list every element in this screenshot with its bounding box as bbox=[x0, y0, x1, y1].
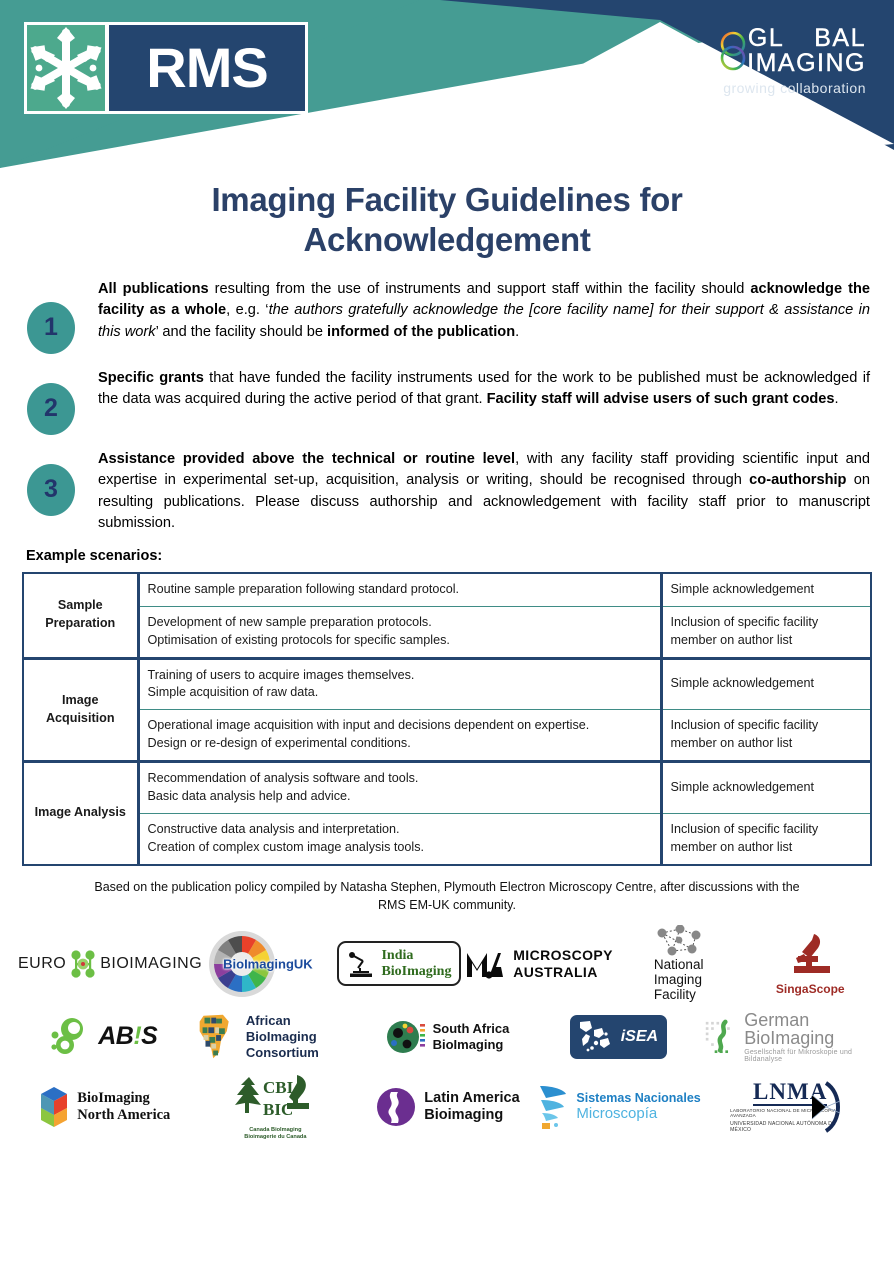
purple-circle-icon bbox=[374, 1085, 418, 1129]
euro-bioimaging-logo: EURO BIOIMAGING bbox=[18, 949, 202, 979]
svg-text:BIC: BIC bbox=[263, 1100, 293, 1119]
guideline-item: 3 Assistance provided above the technica… bbox=[24, 449, 870, 535]
singascope-logo: SingaScope bbox=[776, 932, 845, 996]
nif-line3: Facility bbox=[654, 987, 704, 1002]
microscope-icon bbox=[347, 949, 375, 979]
canada-bioimaging-logo: CBI BIC Canada BioImaging Bioimagerie du… bbox=[235, 1073, 315, 1140]
logo-row-3: BioImaging North America CBI BIC bbox=[18, 1072, 876, 1142]
network-nodes-icon bbox=[652, 925, 706, 957]
gbi-rainbow-circles-icon bbox=[710, 30, 756, 72]
lnma-logo: LNMA LABORATORIO NACIONAL DE MICROSCOPIA… bbox=[730, 1081, 850, 1133]
table-row: Development of new sample preparation pr… bbox=[23, 606, 871, 658]
partner-logos: EURO BIOIMAGING bbox=[0, 926, 894, 1142]
rms-logo-navy-panel: RMS bbox=[109, 25, 305, 111]
page-header: RMS GL BAL BI IMAGING bbox=[0, 0, 894, 168]
guideline-text: All publications resulting from the use … bbox=[98, 279, 870, 344]
logo-cell: India BioImaging bbox=[334, 926, 466, 1002]
logo-cell: SingaScope bbox=[744, 926, 876, 1002]
abis-logo: AB!S bbox=[50, 1017, 157, 1057]
logo-cell: CBI BIC Canada BioImaging Bioimagerie du… bbox=[190, 1072, 362, 1142]
abc-text: African BioImaging Consortium bbox=[246, 1013, 361, 1060]
maple-microscope-icon: CBI BIC bbox=[235, 1073, 315, 1125]
snowflake-icon bbox=[28, 25, 104, 111]
table-description-cell: Development of new sample preparation pr… bbox=[138, 606, 661, 658]
logo-cell: German BioImaging Gesellschaft für Mikro… bbox=[704, 1002, 876, 1072]
unam-icon bbox=[730, 1081, 850, 1133]
table-acknowledgement-cell: Inclusion of specific facility member on… bbox=[661, 813, 871, 864]
isea-logo: iSEA bbox=[570, 1015, 667, 1059]
table-acknowledgement-cell: Inclusion of specific facility member on… bbox=[661, 606, 871, 658]
logo-cell: LNMA LABORATORIO NACIONAL DE MICROSCOPIA… bbox=[704, 1072, 876, 1142]
sab-text: South Africa BioImaging bbox=[433, 1021, 510, 1054]
guideline-text: Specific grants that have funded the fac… bbox=[98, 368, 870, 411]
table-description-cell: Training of users to acquire images them… bbox=[138, 658, 661, 710]
page-title: Imaging Facility Guidelines for Acknowle… bbox=[0, 180, 894, 261]
german-line1: German bbox=[744, 1011, 876, 1029]
latin-america-bioimaging-logo: Latin America Bioimaging bbox=[374, 1085, 519, 1129]
blue-swoosh-icon bbox=[536, 1084, 570, 1130]
table-acknowledgement-cell: Simple acknowledgement bbox=[661, 573, 871, 606]
bina-line2: North America bbox=[77, 1107, 170, 1124]
microscopy-australia-logo: MICROSCOPY AUSTRALIA bbox=[465, 947, 613, 981]
german-subtitle: Gesellschaft für Mikroskopie und Bildana… bbox=[744, 1049, 876, 1063]
latam-line2: Bioimaging bbox=[424, 1107, 519, 1124]
table-category-cell: Sample Preparation bbox=[23, 573, 138, 658]
sistemas-nacionales-microscopia-logo: Sistemas Nacionales Microscopía bbox=[536, 1084, 700, 1130]
logo-cell: AB!S bbox=[18, 1002, 190, 1072]
table-description-cell: Operational image acquisition with input… bbox=[138, 710, 661, 762]
table-description-cell: Routine sample preparation following sta… bbox=[138, 573, 661, 606]
rms-logo-green-panel bbox=[27, 25, 105, 111]
german-bioimaging-text: German BioImaging Gesellschaft für Mikro… bbox=[744, 1011, 876, 1063]
guideline-bullet: 1 bbox=[24, 301, 78, 355]
table-row: Image Analysis Recommendation of analysi… bbox=[23, 762, 871, 814]
singascope-label: SingaScope bbox=[776, 982, 845, 996]
example-scenarios-label: Example scenarios: bbox=[26, 548, 894, 564]
bioimaging-north-america-logo: BioImaging North America bbox=[37, 1085, 170, 1129]
table-acknowledgement-cell: Simple acknowledgement bbox=[661, 762, 871, 814]
global-bioimaging-logo: GL BAL BI IMAGING growing colla bbox=[646, 26, 866, 98]
pixel-helix-icon bbox=[704, 1016, 738, 1058]
gbi-line2-post: IMAGING bbox=[747, 51, 866, 76]
logo-row-1: EURO BIOIMAGING bbox=[18, 926, 876, 1002]
microscopy-australia-text: MICROSCOPY AUSTRALIA bbox=[513, 947, 613, 980]
logo-cell: Latin America Bioimaging bbox=[361, 1072, 533, 1142]
euro-bioimaging-word1: EURO bbox=[18, 955, 66, 973]
sistemas-text: Sistemas Nacionales Microscopía bbox=[576, 1091, 700, 1122]
microscope-icon bbox=[784, 932, 836, 982]
logo-row-2: AB!S bbox=[18, 1002, 876, 1072]
abc-line1: African BioImaging bbox=[246, 1013, 361, 1044]
rms-logo-text: RMS bbox=[146, 40, 267, 96]
india-line1: India bbox=[381, 948, 451, 963]
table-category-cell: Image Analysis bbox=[23, 762, 138, 865]
logo-cell: African BioImaging Consortium bbox=[190, 1002, 362, 1072]
table-description-cell: Recommendation of analysis software and … bbox=[138, 762, 661, 814]
source-caption: Based on the publication policy compiled… bbox=[0, 878, 894, 914]
table-row: Operational image acquisition with input… bbox=[23, 710, 871, 762]
color-cube-icon bbox=[37, 1085, 71, 1129]
ma-line2: AUSTRALIA bbox=[513, 964, 613, 981]
guidelines-list: 1 All publications resulting from the us… bbox=[0, 279, 894, 535]
logo-cell: South Africa BioImaging bbox=[361, 1002, 533, 1072]
guideline-item: 2 Specific grants that have funded the f… bbox=[24, 368, 870, 436]
logo-cell: BioImagingUK bbox=[202, 926, 334, 1002]
euro-bioimaging-word2: BIOIMAGING bbox=[100, 955, 202, 973]
gbi-line-1: GL BAL bbox=[646, 26, 866, 51]
bina-text: BioImaging North America bbox=[77, 1090, 170, 1123]
sab-line2: BioImaging bbox=[433, 1037, 510, 1053]
cell-chart-icon bbox=[385, 1016, 427, 1058]
scenarios-table: Sample Preparation Routine sample prepar… bbox=[22, 572, 872, 866]
african-bioimaging-consortium-logo: African BioImaging Consortium bbox=[190, 1011, 362, 1063]
guideline-text: Assistance provided above the technical … bbox=[98, 449, 870, 535]
india-line2: BioImaging bbox=[381, 964, 451, 979]
logo-cell: iSEA bbox=[533, 1002, 705, 1072]
logo-cell: MICROSCOPY AUSTRALIA bbox=[465, 926, 613, 1002]
ma-monogram-icon bbox=[465, 947, 507, 981]
german-line2: BioImaging bbox=[744, 1029, 876, 1047]
india-bioimaging-text: India BioImaging bbox=[381, 948, 451, 979]
national-imaging-facility-logo: National Imaging Facility bbox=[652, 925, 706, 1002]
latam-text: Latin America Bioimaging bbox=[424, 1090, 519, 1124]
south-africa-bioimaging-logo: South Africa BioImaging bbox=[385, 1016, 510, 1058]
isea-label: iSEA bbox=[621, 1028, 658, 1046]
table-row: Sample Preparation Routine sample prepar… bbox=[23, 573, 871, 606]
guideline-number-badge: 2 bbox=[27, 383, 75, 435]
southeast-asia-map-icon bbox=[574, 1016, 614, 1056]
german-bioimaging-logo: German BioImaging Gesellschaft für Mikro… bbox=[704, 1011, 876, 1063]
gbi-line-2: BI IMAGING bbox=[646, 51, 866, 76]
logo-cell: Sistemas Nacionales Microscopía bbox=[533, 1072, 705, 1142]
table-row: Image Acquisition Training of users to a… bbox=[23, 658, 871, 710]
latam-line1: Latin America bbox=[424, 1090, 519, 1107]
guideline-item: 1 All publications resulting from the us… bbox=[24, 279, 870, 355]
scenarios-table-wrapper: Sample Preparation Routine sample prepar… bbox=[0, 572, 894, 866]
logo-cell: EURO BIOIMAGING bbox=[18, 926, 202, 1002]
nif-line2: Imaging bbox=[654, 972, 704, 987]
nif-line1: National bbox=[654, 957, 704, 972]
table-row: Constructive data analysis and interpret… bbox=[23, 813, 871, 864]
abc-line2: Consortium bbox=[246, 1045, 361, 1061]
africa-map-icon bbox=[190, 1011, 240, 1063]
guideline-bullet: 2 bbox=[24, 382, 78, 436]
rms-logo: RMS bbox=[24, 22, 308, 114]
svg-text:CBI: CBI bbox=[263, 1078, 294, 1097]
bioimaging-uk-logo: BioImagingUK bbox=[208, 928, 328, 1000]
sistemas-line2: Microscopía bbox=[576, 1105, 700, 1122]
logo-cell: BioImaging North America bbox=[18, 1072, 190, 1142]
gbi-line1-post: BAL bbox=[814, 26, 866, 51]
cell-icon bbox=[50, 1017, 92, 1057]
table-description-cell: Constructive data analysis and interpret… bbox=[138, 813, 661, 864]
guideline-bullet: 3 bbox=[24, 463, 78, 517]
table-acknowledgement-cell: Simple acknowledgement bbox=[661, 658, 871, 710]
cbi-subtitle: Canada BioImaging Bioimagerie du Canada bbox=[244, 1127, 306, 1140]
guideline-number-badge: 3 bbox=[27, 464, 75, 516]
sab-line1: South Africa bbox=[433, 1021, 510, 1037]
bioimaging-uk-label: BioImagingUK bbox=[223, 956, 313, 971]
molecule-icon bbox=[70, 949, 96, 979]
bina-line1: BioImaging bbox=[77, 1090, 170, 1107]
gbi-tagline: growing collaboration bbox=[646, 80, 866, 96]
guideline-number-badge: 1 bbox=[27, 302, 75, 354]
cbi-sub1: Canada BioImaging bbox=[244, 1127, 306, 1134]
ma-line1: MICROSCOPY bbox=[513, 947, 613, 964]
logo-cell: National Imaging Facility bbox=[613, 926, 745, 1002]
cbi-sub2: Bioimagerie du Canada bbox=[244, 1134, 306, 1141]
nif-text: National Imaging Facility bbox=[654, 957, 704, 1002]
india-bioimaging-logo: India BioImaging bbox=[337, 941, 461, 986]
table-acknowledgement-cell: Inclusion of specific facility member on… bbox=[661, 710, 871, 762]
abis-label: AB!S bbox=[98, 1022, 157, 1051]
table-category-cell: Image Acquisition bbox=[23, 658, 138, 762]
sistemas-line1: Sistemas Nacionales bbox=[576, 1091, 700, 1105]
